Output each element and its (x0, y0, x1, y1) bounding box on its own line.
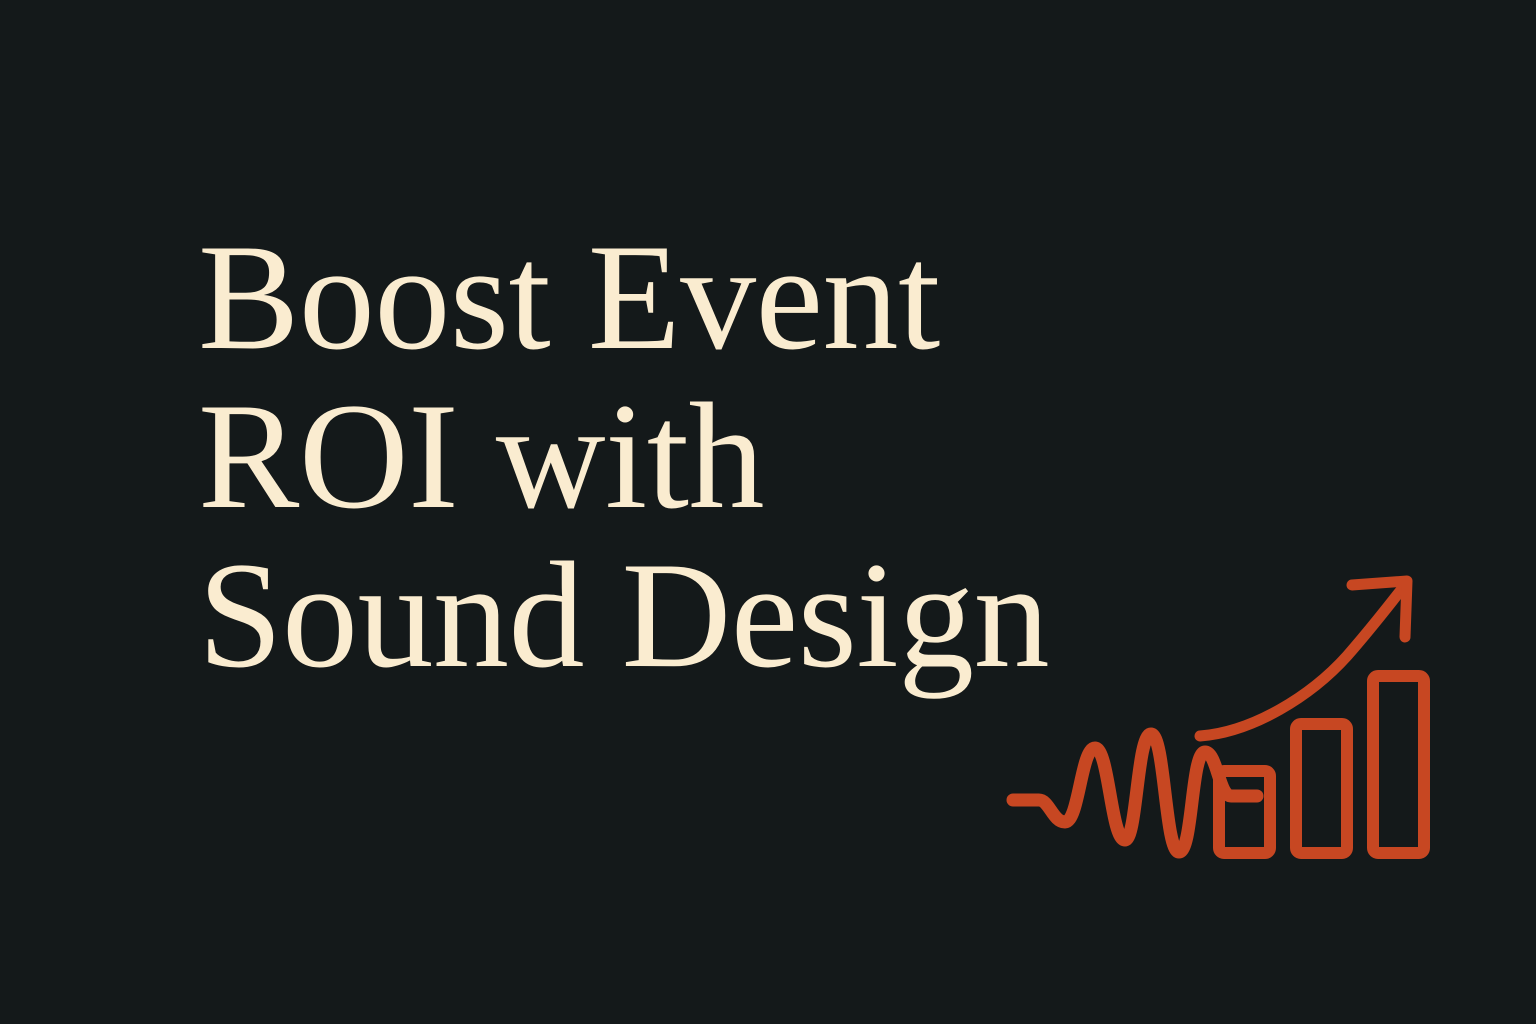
headline-line-2: ROI with (198, 377, 1198, 536)
headline-line-1: Boost Event (198, 218, 1198, 377)
poster-canvas: Boost Event ROI with Sound Design (0, 0, 1536, 1024)
audio-waveform-growth-chart-icon (995, 552, 1440, 872)
bar-large (1373, 676, 1424, 853)
bar-medium (1296, 724, 1347, 853)
